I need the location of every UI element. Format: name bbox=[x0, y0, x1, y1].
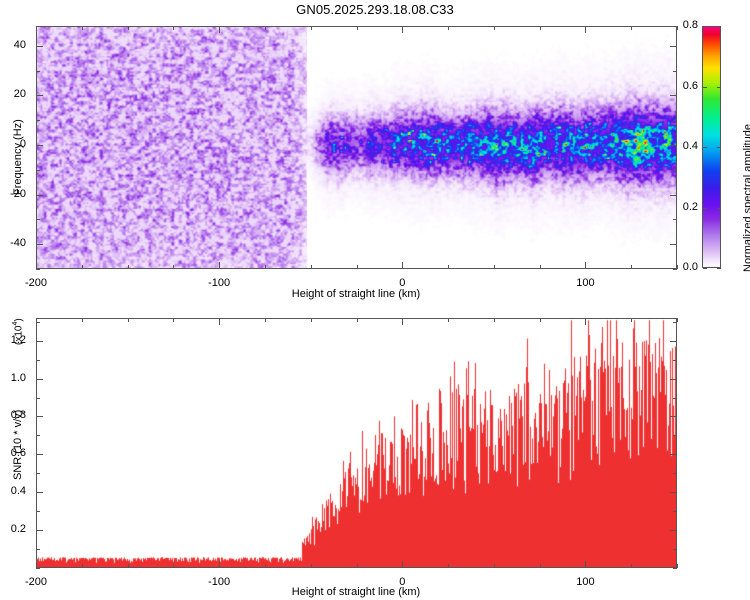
colorbar-tick bbox=[703, 208, 707, 209]
spectrogram-xtick-top bbox=[402, 26, 403, 33]
snr-xtick-minor bbox=[677, 564, 678, 568]
colorbar-title: Normalized spectral amplitude bbox=[742, 124, 750, 272]
snr-ytick-right bbox=[670, 416, 677, 417]
spectrogram-xtick-minor bbox=[494, 265, 495, 269]
spectrogram-xtick-minor bbox=[585, 262, 586, 269]
spectrogram-ytick bbox=[36, 120, 40, 121]
spectrogram-xtick-minor bbox=[311, 265, 312, 269]
spectrogram-xtick-top bbox=[219, 26, 220, 33]
spectrogram-xtick-minor bbox=[173, 265, 174, 269]
snr-ytick-right bbox=[670, 492, 677, 493]
colorbar-tick bbox=[703, 268, 707, 269]
snr-yticklabel: 0.6 bbox=[0, 447, 26, 459]
spectrogram-panel bbox=[36, 26, 677, 269]
snr-xtick-minor bbox=[173, 564, 174, 568]
spectrogram-ylabel: Frequency (Hz) bbox=[12, 119, 24, 195]
spectrogram-xtick-top bbox=[448, 26, 449, 30]
snr-ytick-right bbox=[673, 360, 677, 361]
page-title: GN05.2025.293.18.08.C33 bbox=[0, 2, 750, 17]
snr-ytick bbox=[36, 360, 40, 361]
spectrogram-ytick bbox=[36, 71, 40, 72]
spectrogram-ytick-right bbox=[673, 170, 677, 171]
spectrogram-xticklabel: -100 bbox=[201, 277, 237, 289]
snr-ytick-right bbox=[670, 341, 677, 342]
spectrogram-yticklabel: 20 bbox=[0, 88, 26, 100]
spectrogram-yticklabel: 0 bbox=[0, 138, 26, 150]
colorbar-tick-right bbox=[717, 147, 721, 148]
snr-ytick-right bbox=[673, 435, 677, 436]
spectrogram-xtick-top bbox=[540, 26, 541, 30]
spectrogram-xlabel: Height of straight line (km) bbox=[236, 288, 476, 300]
snr-xtick-minor bbox=[402, 561, 403, 568]
colorbar-ticklabel: 0.4 bbox=[672, 140, 698, 152]
spectrogram-xtick-top bbox=[357, 26, 358, 30]
snr-xtick-minor bbox=[540, 564, 541, 568]
snr-ytick-right bbox=[673, 473, 677, 474]
snr-ytick bbox=[36, 568, 40, 569]
snr-xtick-minor bbox=[448, 564, 449, 568]
spectrogram-ytick bbox=[36, 170, 40, 171]
spectrogram-xtick-minor bbox=[82, 265, 83, 269]
snr-ytick bbox=[36, 530, 43, 531]
exp-power: 4 bbox=[12, 322, 19, 326]
spectrogram-xtick-top bbox=[36, 26, 37, 33]
snr-xticklabel: -200 bbox=[18, 576, 54, 588]
snr-yticklabel: 0.8 bbox=[0, 409, 26, 421]
spectrogram-xtick-top bbox=[585, 26, 586, 33]
snr-xtick-minor bbox=[311, 564, 312, 568]
snr-ytick bbox=[36, 322, 40, 323]
snr-ytick-right bbox=[673, 511, 677, 512]
snr-ytick-right bbox=[673, 549, 677, 550]
snr-ytick-right bbox=[670, 379, 677, 380]
snr-ytick bbox=[36, 492, 43, 493]
snr-xticklabel: 100 bbox=[567, 576, 603, 588]
spectrogram-ytick bbox=[36, 46, 43, 47]
spectrogram-xtick-minor bbox=[631, 265, 632, 269]
spectrogram-xtick-minor bbox=[265, 265, 266, 269]
spectrogram-xtick-top bbox=[311, 26, 312, 30]
snr-xtick-top bbox=[631, 318, 632, 322]
figure-root: GN05.2025.293.18.08.C33 Frequency (Hz) H… bbox=[0, 0, 750, 600]
colorbar-tick bbox=[703, 87, 707, 88]
snr-xtick-top bbox=[540, 318, 541, 322]
snr-xtick-top bbox=[448, 318, 449, 322]
spectrogram-xtick-minor bbox=[402, 262, 403, 269]
spectrogram-yticklabel: 40 bbox=[0, 39, 26, 51]
spectrogram-xticklabel: -200 bbox=[18, 277, 54, 289]
spectrogram-ytick bbox=[36, 219, 40, 220]
snr-ytick bbox=[36, 435, 40, 436]
snr-ytick-right bbox=[673, 322, 677, 323]
spectrogram-ytick-right bbox=[670, 95, 677, 96]
spectrogram-xtick-minor bbox=[219, 262, 220, 269]
spectrogram-xtick-minor bbox=[448, 265, 449, 269]
spectrogram-ytick bbox=[36, 269, 40, 270]
snr-xticklabel: 0 bbox=[384, 576, 420, 588]
colorbar-ticklabel: 0.6 bbox=[672, 80, 698, 92]
colorbar-ticklabel: 0.8 bbox=[672, 19, 698, 31]
snr-ytick bbox=[36, 454, 43, 455]
snr-xtick-minor bbox=[36, 561, 37, 568]
snr-xtick-top bbox=[677, 318, 678, 322]
snr-xtick-top bbox=[173, 318, 174, 322]
snr-xticklabel: -100 bbox=[201, 576, 237, 588]
snr-ytick-right bbox=[673, 398, 677, 399]
colorbar-tick-right bbox=[717, 26, 721, 27]
spectrogram-ytick-right bbox=[673, 120, 677, 121]
snr-xtick-minor bbox=[128, 564, 129, 568]
snr-ytick bbox=[36, 341, 43, 342]
spectrogram-ytick bbox=[36, 244, 43, 245]
spectrogram-ytick-right bbox=[673, 219, 677, 220]
snr-xtick-minor bbox=[357, 564, 358, 568]
spectrogram-image bbox=[37, 27, 676, 268]
snr-xtick-minor bbox=[265, 564, 266, 568]
snr-xtick-top bbox=[265, 318, 266, 322]
snr-ytick bbox=[36, 473, 40, 474]
snr-xtick-minor bbox=[494, 564, 495, 568]
spectrogram-ytick bbox=[36, 95, 43, 96]
colorbar-ticklabel: 0.0 bbox=[672, 261, 698, 273]
snr-xtick-minor bbox=[631, 564, 632, 568]
spectrogram-ytick-right bbox=[670, 46, 677, 47]
spectrogram-xtick-top bbox=[265, 26, 266, 30]
snr-xtick-top bbox=[402, 318, 403, 325]
spectrogram-ytick-right bbox=[673, 71, 677, 72]
snr-xtick-top bbox=[494, 318, 495, 322]
colorbar-ticklabel: 0.2 bbox=[672, 201, 698, 213]
colorbar-tick-right bbox=[717, 87, 721, 88]
snr-ytick bbox=[36, 416, 43, 417]
snr-ytick bbox=[36, 398, 40, 399]
exp-tail: ) bbox=[13, 318, 24, 321]
snr-xlabel: Height of straight line (km) bbox=[236, 586, 476, 598]
spectrogram-xtick-top bbox=[631, 26, 632, 30]
spectrogram-ytick bbox=[36, 195, 43, 196]
spectrogram-xticklabel: 100 bbox=[567, 277, 603, 289]
spectrogram-yticklabel: -40 bbox=[0, 237, 26, 249]
snr-yticklabel: 1.0 bbox=[0, 372, 26, 384]
snr-yticklabel: 0.4 bbox=[0, 485, 26, 497]
snr-xtick-top bbox=[585, 318, 586, 325]
colorbar-tick-right bbox=[717, 268, 721, 269]
colorbar-tick-right bbox=[717, 208, 721, 209]
snr-ytick-right bbox=[670, 530, 677, 531]
snr-ytick-right bbox=[670, 454, 677, 455]
spectrogram-xticklabel: 0 bbox=[384, 277, 420, 289]
spectrogram-xtick-minor bbox=[128, 265, 129, 269]
spectrogram-ytick-right bbox=[670, 195, 677, 196]
snr-yticklabel: 0.2 bbox=[0, 523, 26, 535]
snr-xtick-minor bbox=[585, 561, 586, 568]
snr-panel bbox=[36, 318, 677, 568]
snr-ytick bbox=[36, 379, 43, 380]
spectrogram-xtick-minor bbox=[357, 265, 358, 269]
snr-yticklabel: 1.2 bbox=[0, 334, 26, 346]
snr-xtick-top bbox=[82, 318, 83, 322]
snr-ytick-right bbox=[673, 568, 677, 569]
snr-ytick bbox=[36, 511, 40, 512]
spectrogram-yticklabel: -20 bbox=[0, 188, 26, 200]
snr-xtick-minor bbox=[219, 561, 220, 568]
spectrogram-ytick-right bbox=[670, 244, 677, 245]
spectrogram-xtick-minor bbox=[36, 262, 37, 269]
snr-xtick-minor bbox=[82, 564, 83, 568]
snr-xtick-top bbox=[219, 318, 220, 325]
snr-xtick-top bbox=[357, 318, 358, 322]
spectrogram-xtick-top bbox=[82, 26, 83, 30]
snr-trace bbox=[37, 319, 676, 567]
colorbar-tick bbox=[703, 26, 707, 27]
spectrogram-xtick-top bbox=[173, 26, 174, 30]
spectrogram-xtick-minor bbox=[540, 265, 541, 269]
spectrogram-ytick bbox=[36, 145, 43, 146]
snr-ytick bbox=[36, 549, 40, 550]
colorbar-tick bbox=[703, 147, 707, 148]
snr-xtick-top bbox=[128, 318, 129, 322]
spectrogram-xtick-top bbox=[128, 26, 129, 30]
spectrogram-xtick-top bbox=[494, 26, 495, 30]
snr-xtick-top bbox=[311, 318, 312, 322]
